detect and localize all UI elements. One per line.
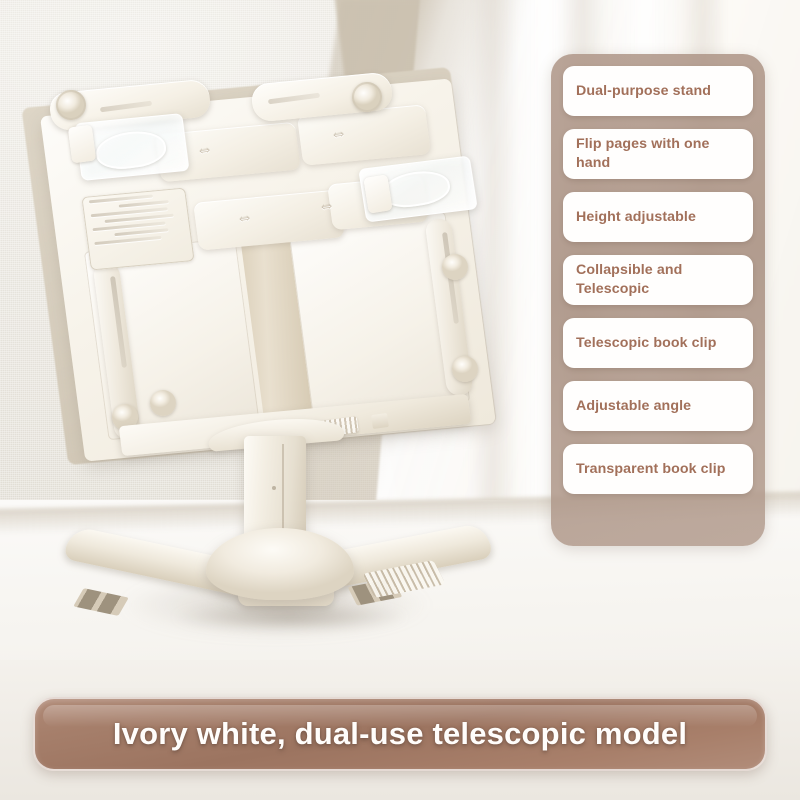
column-seam [282, 444, 284, 536]
feature-pill-transparent-book-clip[interactable]: Transparent book clip [563, 444, 753, 494]
feature-pill-adjustable-angle[interactable]: Adjustable angle [563, 381, 753, 431]
rail-knob-left [150, 390, 176, 416]
base-foot-holes-left [73, 588, 129, 616]
banner-title: Ivory white, dual-use telescopic model [113, 716, 687, 752]
column-screw [272, 486, 276, 490]
feature-list-panel: Dual-purpose stand Flip pages with one h… [551, 54, 765, 546]
feature-label: Collapsible and Telescopic [576, 261, 740, 298]
emboss-arrow-icon-4: ⇔ [317, 195, 335, 217]
base-hub [206, 528, 354, 600]
feature-label: Dual-purpose stand [576, 82, 711, 101]
emboss-arrow-icon-2: ⇔ [329, 123, 347, 145]
book-stand-product: ⇔ ⇔ ⇔ ⇔ [0, 0, 540, 680]
feature-label: Telescopic book clip [576, 334, 717, 353]
feature-pill-height-adjustable[interactable]: Height adjustable [563, 192, 753, 242]
clip-tab-left [68, 125, 96, 164]
emboss-arrow-icon-3: ⇔ [235, 207, 253, 229]
bottom-banner: Ivory white, dual-use telescopic model [33, 697, 767, 771]
rail-knob-right [452, 356, 478, 382]
info-plate [81, 188, 194, 271]
feature-label: Flip pages with one hand [576, 135, 740, 172]
feature-label: Height adjustable [576, 208, 696, 227]
rail-knob-right-upper [442, 254, 468, 280]
feature-label: Transparent book clip [576, 460, 726, 479]
feature-label: Adjustable angle [576, 397, 691, 416]
feature-pill-telescopic-book-clip[interactable]: Telescopic book clip [563, 318, 753, 368]
lip-foot-right [371, 413, 389, 429]
emboss-arrow-icon-1: ⇔ [195, 139, 213, 161]
feature-pill-collapsible-telescopic[interactable]: Collapsible and Telescopic [563, 255, 753, 305]
product-marketing-image: ⇔ ⇔ ⇔ ⇔ [0, 0, 800, 800]
feature-pill-flip-pages[interactable]: Flip pages with one hand [563, 129, 753, 179]
feature-pill-dual-purpose-stand[interactable]: Dual-purpose stand [563, 66, 753, 116]
